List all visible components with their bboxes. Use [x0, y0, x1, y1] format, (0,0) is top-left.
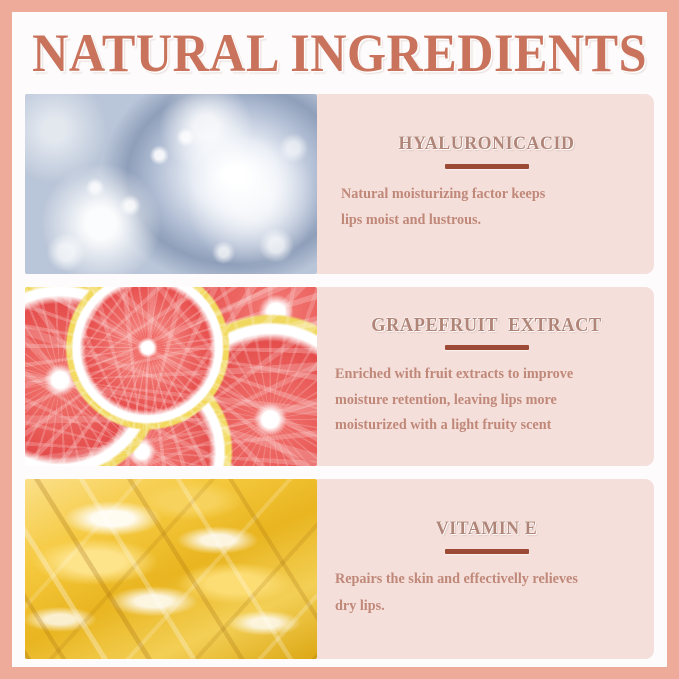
ingredient-row-hyaluronic-acid: HYALURONICACID Natural moisturizing fact…	[25, 94, 654, 274]
hyaluronic-acid-water-bubbles-photo	[25, 94, 317, 274]
page-title: NATURAL INGREDIENTS	[32, 26, 647, 80]
description-line: moisturized with a light fruity scent	[335, 413, 638, 438]
description-line: lips moist and lustrous.	[341, 207, 638, 233]
heading-divider	[445, 345, 529, 350]
ingredient-heading: GRAPEFRUIT EXTRACT	[344, 315, 629, 336]
ingredient-row-grapefruit-extract: GRAPEFRUIT EXTRACT Enriched with fruit e…	[25, 287, 654, 467]
ingredient-description: Enriched with fruit extracts to improve …	[335, 362, 638, 438]
description-line: Repairs the skin and effectivelly reliev…	[335, 566, 638, 592]
poster-inner-panel: NATURAL INGREDIENTS HYALURONICACID Natur…	[12, 12, 667, 667]
grapefruit-slices-photo	[25, 287, 317, 467]
ingredient-heading: VITAMIN E	[344, 519, 629, 540]
ingredient-card-grapefruit-extract: GRAPEFRUIT EXTRACT Enriched with fruit e…	[317, 287, 654, 467]
ingredient-card-hyaluronic-acid: HYALURONICACID Natural moisturizing fact…	[317, 94, 654, 274]
description-line: Natural moisturizing factor keeps	[341, 181, 638, 207]
ingredient-card-vitamin-e: VITAMIN E Repairs the skin and effective…	[317, 479, 654, 659]
heading-divider	[445, 164, 529, 169]
description-line: moisture retention, leaving lips more	[335, 388, 638, 413]
description-line: dry lips.	[335, 593, 638, 619]
heading-divider	[445, 549, 529, 554]
title-section: NATURAL INGREDIENTS	[12, 12, 667, 94]
description-line: Enriched with fruit extracts to improve	[335, 362, 638, 387]
ingredient-row-vitamin-e: VITAMIN E Repairs the skin and effective…	[25, 479, 654, 659]
ingredient-description: Natural moisturizing factor keeps lips m…	[335, 181, 638, 234]
ingredients-infographic: NATURAL INGREDIENTS HYALURONICACID Natur…	[0, 0, 679, 679]
ingredient-description: Repairs the skin and effectivelly reliev…	[335, 566, 638, 619]
vitamin-e-softgel-capsules-photo	[25, 479, 317, 659]
ingredient-rows: HYALURONICACID Natural moisturizing fact…	[12, 94, 667, 667]
ingredient-heading: HYALURONICACID	[344, 134, 629, 155]
